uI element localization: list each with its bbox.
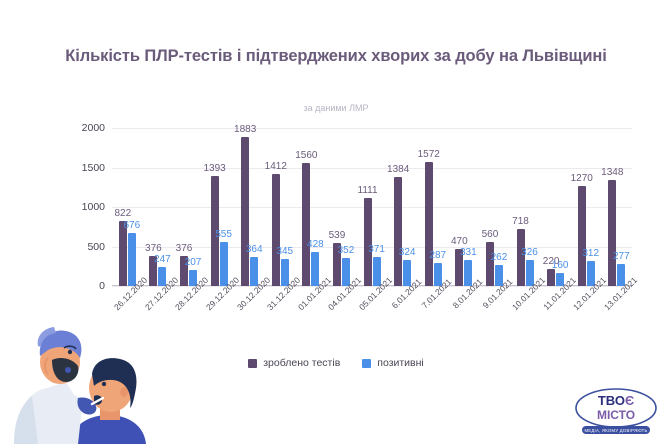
x-axis-label-cell: 11.01.2021 [540, 288, 571, 340]
x-axis-label-cell: 9.01.2021 [479, 288, 510, 340]
bar-group[interactable]: 718326 [510, 128, 541, 286]
bar-value-label: 331 [460, 248, 477, 258]
bar-value-label: 287 [429, 251, 446, 261]
bar-value-label: 718 [512, 217, 529, 227]
pcr-swab-test-illustration [8, 312, 176, 444]
logo-tagline: МЕДІА, ЯКОМУ ДОВІРЯЮТЬ [584, 428, 647, 433]
bar-value-label: 822 [114, 209, 131, 219]
bar-value-label: 324 [399, 248, 416, 258]
bar-value-label: 539 [329, 231, 346, 241]
bar-value-label: 277 [613, 252, 630, 262]
bar-tests[interactable]: 1560 [302, 163, 310, 286]
legend-swatch-icon [362, 359, 371, 368]
bar-tests[interactable]: 1883 [241, 137, 249, 286]
bar-value-label: 428 [307, 240, 324, 250]
bar-group[interactable]: 1560428 [296, 128, 327, 286]
chart-plot-area: 0500100015002000 82267637624737620713935… [112, 128, 632, 286]
x-axis-label-cell: 8.01.2021 [449, 288, 480, 340]
bar-value-label: 1560 [295, 151, 317, 161]
bar-value-label: 560 [482, 230, 499, 240]
y-axis-tick-label: 0 [99, 280, 105, 292]
bar-positive[interactable]: 555 [220, 242, 228, 286]
bar-tests[interactable]: 1348 [608, 180, 616, 286]
x-axis-label-cell: 10.01.2021 [510, 288, 541, 340]
y-axis-tick-label: 2000 [82, 122, 105, 134]
bar-tests[interactable]: 1384 [394, 177, 402, 286]
bar-group[interactable]: 560262 [479, 128, 510, 286]
x-axis-label-cell: 05.01.2021 [357, 288, 388, 340]
bar-value-label: 376 [176, 244, 193, 254]
bar-group[interactable]: 1384324 [387, 128, 418, 286]
x-axis-label-cell: 12.01.2021 [571, 288, 602, 340]
bar-positive[interactable]: 676 [128, 233, 136, 286]
bar-value-label: 1270 [571, 174, 593, 184]
bar-value-label: 160 [552, 261, 569, 271]
legend-label: позитивні [377, 357, 423, 369]
bar-value-label: 371 [368, 245, 385, 255]
legend-label: зроблено тестів [263, 357, 340, 369]
bar-group[interactable]: 376247 [143, 128, 174, 286]
x-axis-label-cell: 28.12.2020 [173, 288, 204, 340]
bar-value-label: 326 [521, 248, 538, 258]
legend-swatch-icon [248, 359, 257, 368]
x-axis-label-cell: 6.01.2021 [387, 288, 418, 340]
bar-value-label: 364 [246, 245, 263, 255]
bar-value-label: 345 [276, 247, 293, 257]
bar-group[interactable]: 822676 [112, 128, 143, 286]
bar-tests[interactable]: 560 [486, 242, 494, 286]
bar-value-label: 1572 [418, 150, 440, 160]
bar-value-label: 1393 [203, 164, 225, 174]
bar-group[interactable]: 1270312 [571, 128, 602, 286]
chart-subtitle: за даними ЛМР [56, 103, 616, 113]
bar-group[interactable]: 1111371 [357, 128, 388, 286]
bar-value-label: 1111 [358, 186, 378, 196]
x-axis-label-cell: 30.12.2020 [234, 288, 265, 340]
bar-value-label: 470 [451, 237, 468, 247]
bar-tests[interactable]: 1412 [272, 174, 280, 286]
bar-tests[interactable]: 1270 [578, 186, 586, 286]
bar-group[interactable]: 376207 [173, 128, 204, 286]
x-axis-label-cell: 7.01.2021 [418, 288, 449, 340]
bar-group[interactable]: 470331 [449, 128, 480, 286]
page-title: Кількість ПЛР-тестів і підтверджених хво… [56, 45, 616, 69]
bar-value-label: 555 [215, 230, 232, 240]
bar-group[interactable]: 539352 [326, 128, 357, 286]
y-axis-tick-label: 500 [87, 241, 105, 253]
bar-group[interactable]: 1348277 [602, 128, 633, 286]
bar-group[interactable]: 1883364 [234, 128, 265, 286]
bar-group[interactable]: 220160 [540, 128, 571, 286]
x-axis-labels: 26.12.202027.12.202028.12.202029.12.2020… [112, 288, 632, 340]
bar-value-label: 262 [491, 253, 508, 263]
bar-value-label: 352 [338, 246, 355, 256]
bar-group[interactable]: 1412345 [265, 128, 296, 286]
bar-group[interactable]: 1393555 [204, 128, 235, 286]
legend-item[interactable]: зроблено тестів [248, 357, 340, 369]
y-axis-tick-label: 1000 [82, 201, 105, 213]
logo-word1: ТВОЄ [598, 393, 634, 408]
x-axis-label-cell: 13.01.2021 [602, 288, 633, 340]
y-axis-tick-label: 1500 [82, 162, 105, 174]
bar-value-label: 1348 [601, 168, 623, 178]
bar-tests[interactable]: 822 [119, 221, 127, 286]
bar-group[interactable]: 1572287 [418, 128, 449, 286]
x-axis-label-cell: 01.01.2021 [296, 288, 327, 340]
bar-tests[interactable]: 1572 [425, 162, 433, 286]
bar-groups: 8226763762473762071393555188336414123451… [112, 128, 632, 286]
x-axis-label-cell: 29.12.2020 [204, 288, 235, 340]
legend-item[interactable]: позитивні [362, 357, 423, 369]
bar-value-label: 207 [185, 258, 202, 268]
bar-value-label: 676 [123, 221, 140, 231]
bar-value-label: 312 [582, 249, 599, 259]
tvoe-misto-logo: ТВОЄ МІСТО МЕДІА, ЯКОМУ ДОВІРЯЮТЬ [568, 382, 664, 438]
x-axis-label-cell: 04.01.2021 [326, 288, 357, 340]
bar-tests[interactable]: 1111 [364, 198, 372, 286]
logo-word2: МІСТО [597, 408, 635, 422]
bar-value-label: 1412 [265, 162, 287, 172]
bar-value-label: 247 [154, 255, 171, 265]
bar-value-label: 1883 [234, 125, 256, 135]
bar-value-label: 1384 [387, 165, 409, 175]
x-axis-label-cell: 31.12.2020 [265, 288, 296, 340]
